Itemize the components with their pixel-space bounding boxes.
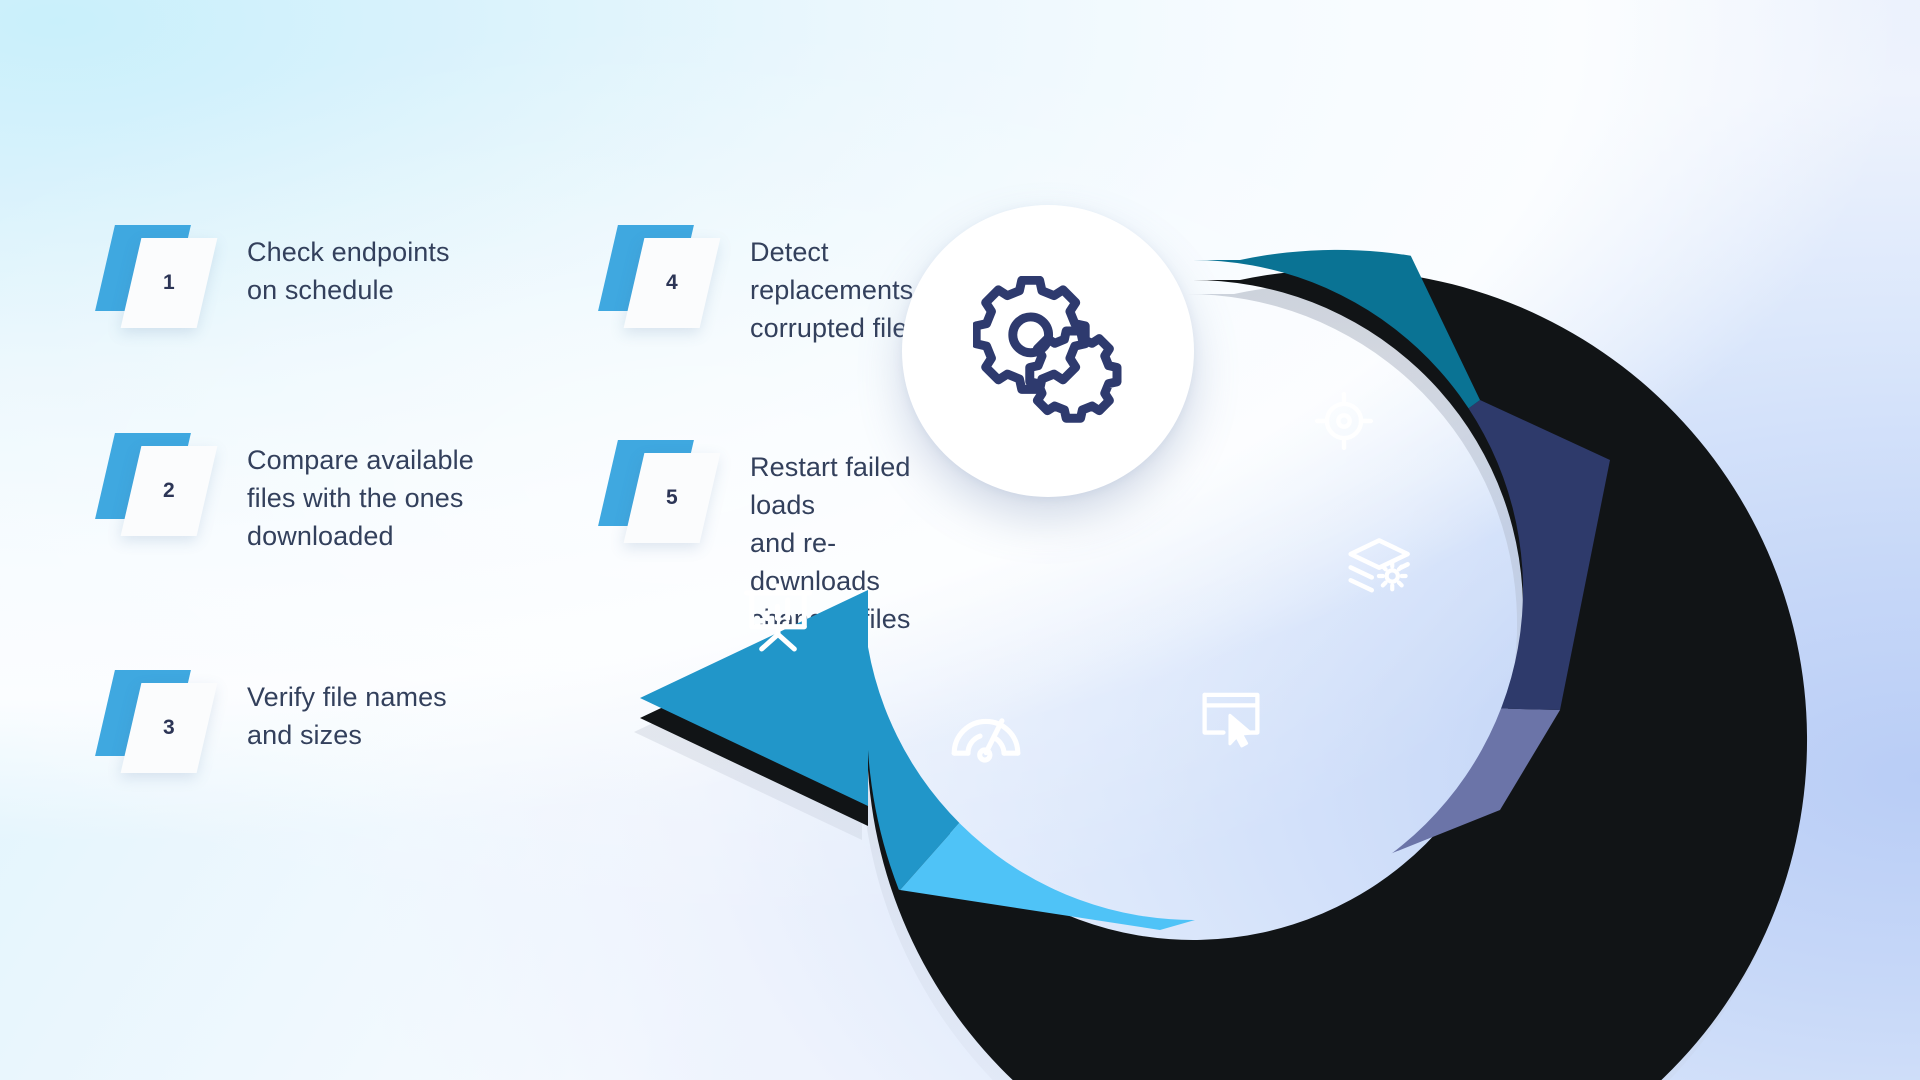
step-item-3[interactable]: 3 Verify file names and sizes <box>105 670 447 775</box>
step-item-2[interactable]: 2 Compare available files with the ones … <box>105 433 474 555</box>
step-label: Compare available files with the ones do… <box>247 433 474 555</box>
presentation-chart-icon <box>740 580 816 656</box>
hub-circle <box>902 205 1194 497</box>
step-badge-2: 2 <box>105 433 223 538</box>
layers-gear-icon <box>1345 533 1419 607</box>
step-number: 3 <box>163 716 175 740</box>
gauge-speedometer-icon <box>947 698 1025 776</box>
step-badge-3: 3 <box>105 670 223 775</box>
step-number: 1 <box>163 271 175 295</box>
step-badge-1: 1 <box>105 225 223 330</box>
double-gear-icon <box>973 276 1123 426</box>
step-label: Verify file names and sizes <box>247 670 447 754</box>
browser-cursor-icon <box>1196 683 1266 753</box>
step-number: 2 <box>163 479 175 503</box>
infographic-canvas: 1 Check endpoints on schedule 2 Compare … <box>0 0 1920 1080</box>
step-item-1[interactable]: 1 Check endpoints on schedule <box>105 225 450 330</box>
target-crosshair-icon <box>1313 390 1375 452</box>
step-label: Check endpoints on schedule <box>247 225 450 309</box>
